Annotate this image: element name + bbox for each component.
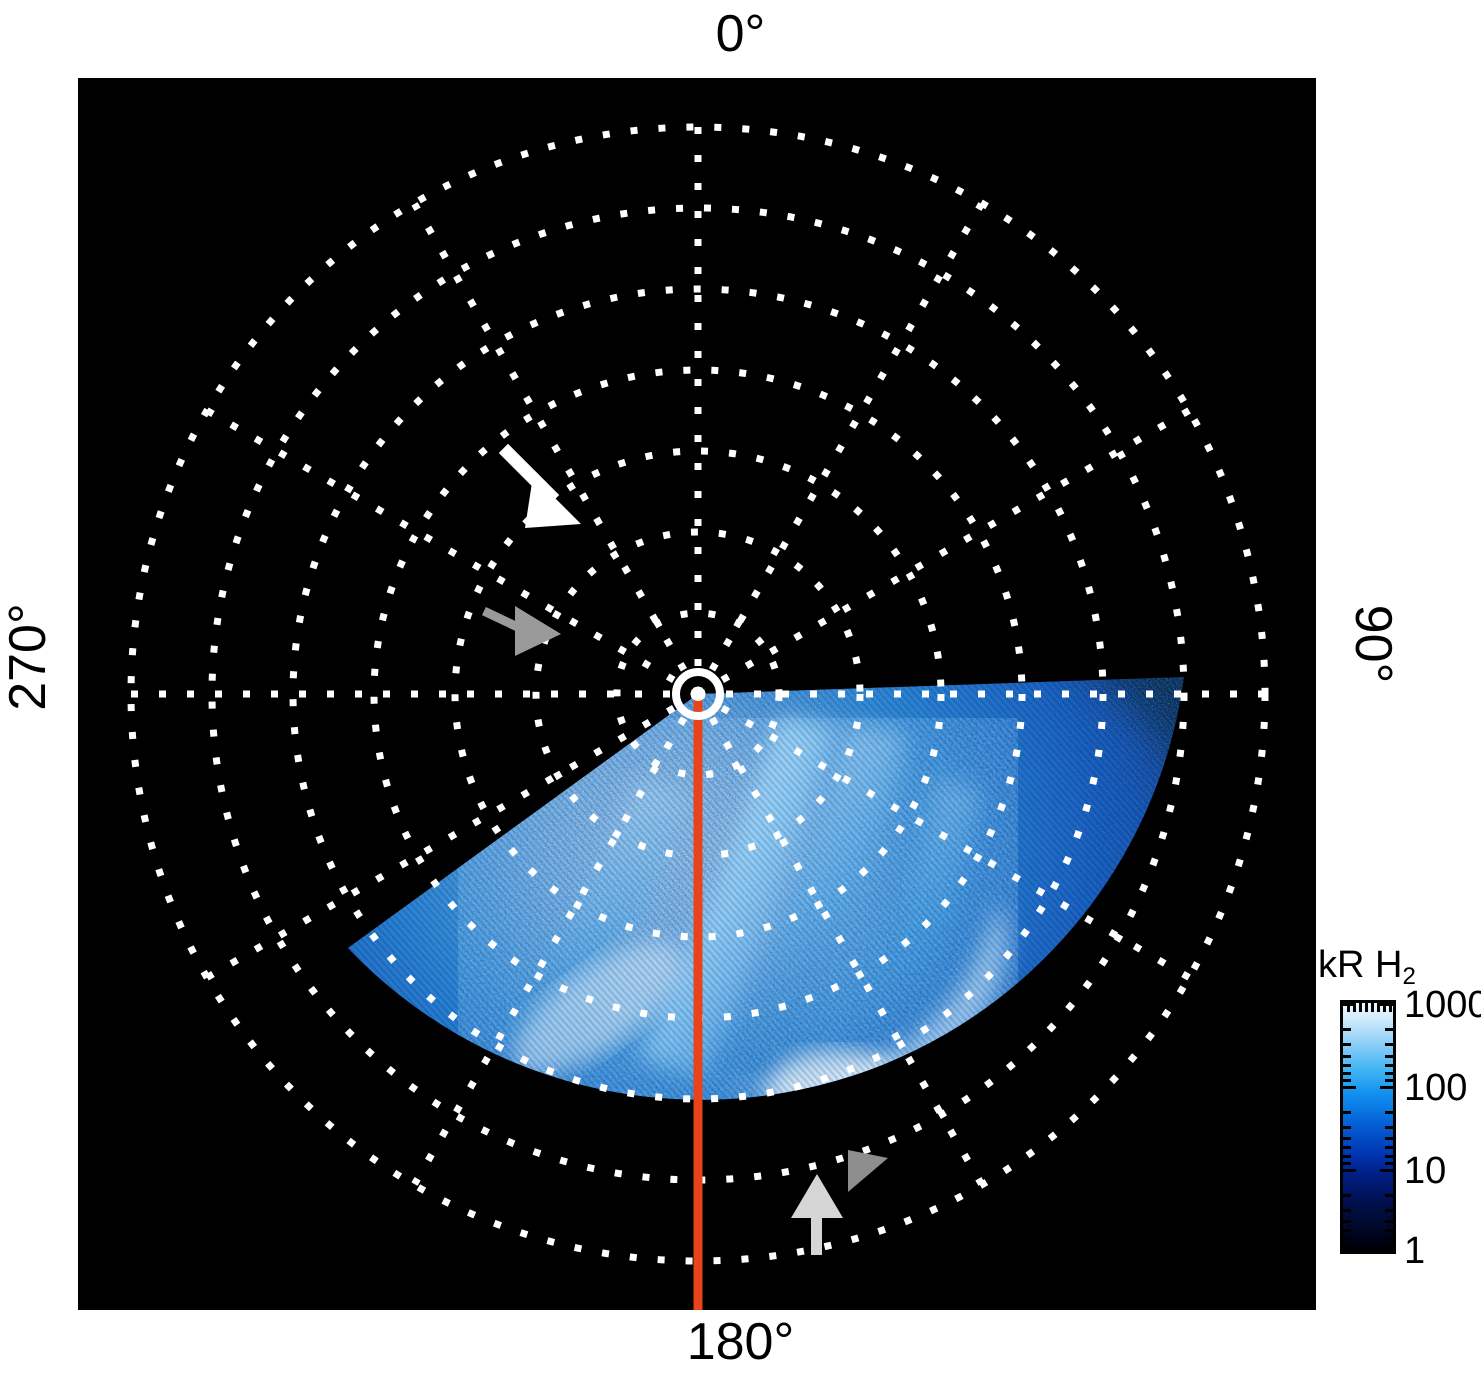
colorbar-tick-minor	[1385, 1146, 1393, 1149]
axis-label-270deg: 270°	[2, 567, 54, 747]
colorbar-tick-minor	[1385, 1126, 1393, 1129]
meridian-300	[207, 411, 698, 695]
figure-root: 0° 180° 270° 90° kR H2	[0, 0, 1481, 1386]
colorbar-tick-major	[1343, 1169, 1356, 1172]
colorbar-tick-major	[1380, 1003, 1393, 1006]
colorbar-toptick	[1365, 1003, 1368, 1012]
colorbar-tick-minor	[1343, 1194, 1351, 1197]
colorbar-tick-minor	[1343, 1146, 1351, 1149]
colorbar-tick-minor	[1343, 1155, 1351, 1158]
polar-plot-panel	[78, 78, 1316, 1310]
colorbar-title-text: kR H	[1318, 944, 1402, 986]
aurora-stripe-artifact	[328, 638, 1228, 1310]
colorbar-tick-minor	[1343, 1079, 1351, 1082]
colorbar-tick-major	[1380, 1169, 1393, 1172]
colorbar-tick-major	[1343, 1251, 1356, 1254]
meridian-30	[698, 204, 982, 694]
colorbar-label-100: 100	[1404, 1069, 1467, 1107]
colorbar-tick-minor	[1385, 1079, 1393, 1082]
axis-label-90deg: 90°	[1347, 554, 1399, 734]
aurora-sector	[298, 558, 1238, 1310]
colorbar-tick-major	[1380, 1251, 1393, 1254]
colorbar-tick-minor	[1385, 1064, 1393, 1067]
colorbar-tick-major	[1380, 1086, 1393, 1089]
colorbar-toptick	[1359, 1003, 1362, 1012]
colorbar-label-10: 10	[1404, 1152, 1446, 1190]
colorbar-tick-minor	[1343, 1126, 1351, 1129]
meridian-330	[415, 204, 699, 694]
colorbar-tick-minor	[1343, 1064, 1351, 1067]
annotation-arrow-lower-light	[791, 1174, 843, 1255]
colorbar-toptick	[1371, 1003, 1374, 1012]
colorbar: kR H2	[1318, 944, 1481, 1324]
colorbar-label-1: 1	[1404, 1232, 1425, 1270]
polar-plot-svg	[78, 78, 1316, 1310]
axis-label-180deg: 180°	[0, 1316, 1481, 1368]
colorbar-tick-minor	[1385, 1055, 1393, 1058]
annotation-arrow-lower-gray	[848, 1150, 888, 1192]
colorbar-tick-minor	[1385, 1229, 1393, 1232]
colorbar-gradient	[1340, 1000, 1396, 1254]
colorbar-tick-minor	[1343, 1209, 1351, 1212]
colorbar-tick-minor	[1385, 1111, 1393, 1114]
colorbar-tick-minor	[1385, 1237, 1393, 1240]
colorbar-tick-minor	[1385, 1162, 1393, 1165]
colorbar-tick-minor	[1343, 1043, 1351, 1046]
colorbar-tick-minor	[1343, 1055, 1351, 1058]
colorbar-tick-minor	[1343, 1162, 1351, 1165]
colorbar-tick-minor	[1343, 1244, 1351, 1247]
colorbar-tick-minor	[1343, 1072, 1351, 1075]
colorbar-label-1000: 1000	[1404, 986, 1481, 1024]
colorbar-tick-minor	[1385, 1194, 1393, 1197]
colorbar-tick-minor	[1343, 1237, 1351, 1240]
colorbar-tick-minor	[1385, 1072, 1393, 1075]
colorbar-tick-major	[1343, 1086, 1356, 1089]
colorbar-title: kR H2	[1318, 944, 1416, 991]
annotation-arrow-upper-gray	[488, 606, 561, 656]
colorbar-tick-minor	[1385, 1155, 1393, 1158]
colorbar-tick-minor	[1385, 1209, 1393, 1212]
colorbar-tick-minor	[1343, 1229, 1351, 1232]
colorbar-tick-minor	[1343, 1220, 1351, 1223]
colorbar-tick-major	[1343, 1003, 1356, 1006]
colorbar-tick-minor	[1385, 1220, 1393, 1223]
colorbar-tick-minor	[1385, 1244, 1393, 1247]
colorbar-tick-minor	[1343, 1111, 1351, 1114]
colorbar-tick-minor	[1343, 1137, 1351, 1140]
colorbar-tick-minor	[1343, 1028, 1351, 1031]
colorbar-tick-minor	[1385, 1137, 1393, 1140]
colorbar-tick-minor	[1385, 1028, 1393, 1031]
axis-label-0deg: 0°	[0, 8, 1481, 60]
colorbar-tick-minor	[1385, 1043, 1393, 1046]
